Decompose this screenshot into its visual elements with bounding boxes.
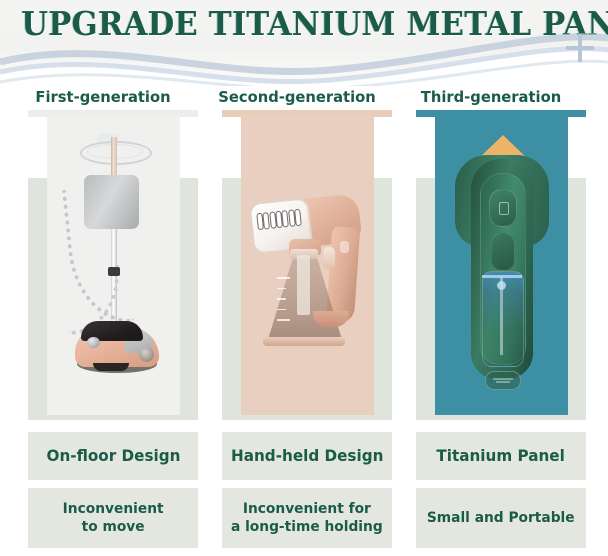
caption-sub-2: Inconvenient for a long-time holding [222,488,392,548]
handheld-tank-base [263,337,345,346]
product-image-handheld-steamer [241,115,374,415]
product-panel-3 [435,115,568,415]
steamer-wheel [139,347,154,362]
caption-main-text-1: On-floor Design [46,447,180,465]
caption-sub-1: Inconvenient to move [28,488,198,548]
handheld-grip-seam [340,241,349,253]
product-image-floor-steamer [47,115,180,415]
handheld-grip-tail [313,311,349,327]
steamer-foot [93,363,129,371]
infographic-canvas: UPGRADE TITANIUM METAL PANEL First-gener… [0,0,608,556]
column-heading-2: Second-generation [207,88,388,106]
caption-main-2: Hand-held Design [222,432,392,480]
steamer-control-knob [87,337,100,348]
column-third-generation: Third-generation Titanium Panel Small an [396,0,586,556]
column-heading-3: Third-generation [401,88,582,106]
handheld-tank-tube [297,255,310,315]
product-panel-2 [241,115,374,415]
steamer-pole-top [111,137,117,175]
handheld-tank-graduations [277,277,293,333]
caption-sub-3: Small and Portable [416,488,586,548]
titanium-tank-bubble [497,281,506,290]
column-heading-1: First-generation [13,88,194,106]
column-second-generation: Second-generation [202,0,392,556]
caption-main-text-3: Titanium Panel [437,447,565,465]
column-first-generation: First-generation [8,0,198,556]
caption-main-3: Titanium Panel [416,432,586,480]
product-image-titanium-steamer [435,115,568,415]
steamer-pole-clamp [108,267,120,276]
titanium-rear-pad [485,371,521,390]
handheld-trigger-button [323,247,335,269]
caption-sub-text-1: Inconvenient to move [63,500,164,536]
product-panel-1 [47,115,180,415]
caption-sub-text-2: Inconvenient for a long-time holding [231,500,383,536]
caption-sub-text-3: Small and Portable [427,509,575,527]
caption-main-1: On-floor Design [28,432,198,480]
caption-main-text-2: Hand-held Design [231,447,383,465]
titanium-steam-button [491,233,515,271]
titanium-power-button [489,189,517,227]
